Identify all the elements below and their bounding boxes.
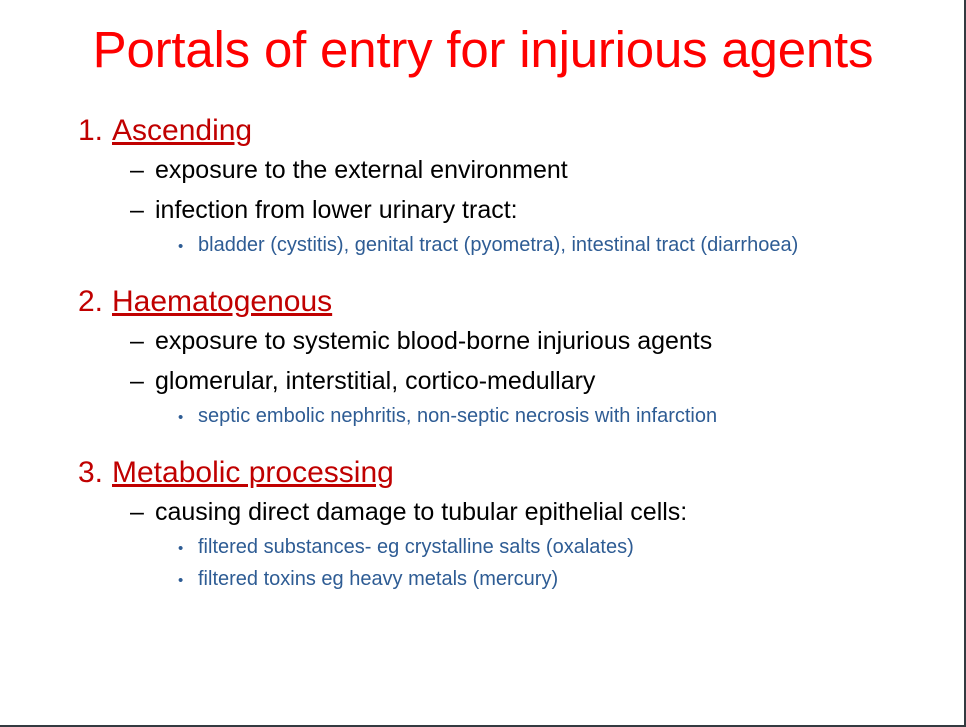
bullet-text: filtered toxins eg heavy metals (mercury… [198, 564, 558, 595]
sub-bullet-item: –causing direct damage to tubular epithe… [0, 492, 966, 532]
round-bullet-icon: • [178, 565, 198, 596]
dash-bullet-icon: – [130, 150, 155, 190]
outline-section: 3.Metabolic processing–causing direct da… [0, 454, 966, 596]
section-heading-label: Haematogenous [112, 283, 332, 321]
dash-bullet-icon: – [130, 321, 155, 361]
section-number: 3. [78, 454, 112, 492]
dash-bullet-icon: – [130, 190, 155, 230]
section-number: 1. [78, 112, 112, 150]
section-heading-label: Metabolic processing [112, 454, 394, 492]
outline-list: 1.Ascending–exposure to the external env… [0, 112, 966, 596]
sub-bullet-item: –glomerular, interstitial, cortico-medul… [0, 361, 966, 401]
sub-bullet-item: –exposure to systemic blood-borne injuri… [0, 321, 966, 361]
bullet-text: septic embolic nephritis, non-septic nec… [198, 401, 717, 432]
bullet-text: infection from lower urinary tract: [155, 190, 518, 230]
sub-sub-bullet-item: •bladder (cystitis), genital tract (pyom… [0, 230, 966, 262]
bullet-text: exposure to systemic blood-borne injurio… [155, 321, 712, 361]
round-bullet-icon: • [178, 231, 198, 262]
bullet-text: bladder (cystitis), genital tract (pyome… [198, 230, 798, 261]
bullet-text: glomerular, interstitial, cortico-medull… [155, 361, 595, 401]
sub-bullet-item: –infection from lower urinary tract: [0, 190, 966, 230]
round-bullet-icon: • [178, 533, 198, 564]
outline-section: 1.Ascending–exposure to the external env… [0, 112, 966, 262]
section-heading: 2.Haematogenous [0, 283, 966, 321]
sub-sub-bullet-item: •filtered substances- eg crystalline sal… [0, 532, 966, 564]
sub-bullet-item: –exposure to the external environment [0, 150, 966, 190]
bullet-text: filtered substances- eg crystalline salt… [198, 532, 634, 563]
dash-bullet-icon: – [130, 492, 155, 532]
bullet-text: exposure to the external environment [155, 150, 568, 190]
slide: Portals of entry for injurious agents 1.… [0, 0, 966, 727]
outline-section: 2.Haematogenous–exposure to systemic blo… [0, 283, 966, 433]
sub-sub-bullet-item: •septic embolic nephritis, non-septic ne… [0, 401, 966, 433]
sub-sub-bullet-item: •filtered toxins eg heavy metals (mercur… [0, 564, 966, 596]
round-bullet-icon: • [178, 402, 198, 433]
section-heading: 1.Ascending [0, 112, 966, 150]
slide-body: 1.Ascending–exposure to the external env… [0, 112, 966, 596]
section-heading: 3.Metabolic processing [0, 454, 966, 492]
slide-title: Portals of entry for injurious agents [0, 23, 966, 77]
section-heading-label: Ascending [112, 112, 252, 150]
section-number: 2. [78, 283, 112, 321]
dash-bullet-icon: – [130, 361, 155, 401]
bullet-text: causing direct damage to tubular epithel… [155, 492, 687, 532]
